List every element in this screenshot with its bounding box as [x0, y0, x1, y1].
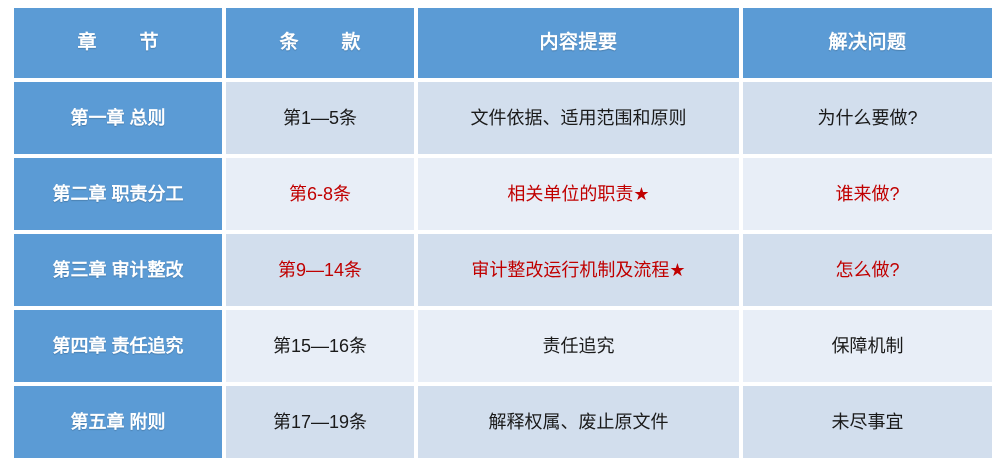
column-header-summary: 内容提要 — [418, 8, 739, 78]
cell-summary-label: 相关单位的职责★ — [507, 183, 649, 206]
cell-problem: 谁来做? — [743, 158, 992, 230]
cell-problem-label: 怎么做? — [835, 259, 899, 282]
cell-chapter-label: 第三章 审计整改 — [52, 259, 183, 282]
cell-chapter: 第三章 审计整改 — [14, 234, 222, 306]
column-header-chapter-label: 章 节 — [65, 31, 170, 55]
cell-clause: 第15—16条 — [226, 310, 414, 382]
cell-summary-label: 文件依据、适用范围和原则 — [471, 107, 687, 130]
column-header-problem-label: 解决问题 — [828, 31, 906, 55]
cell-summary: 文件依据、适用范围和原则 — [418, 82, 739, 154]
column-header-summary-label: 内容提要 — [539, 31, 617, 55]
cell-problem-label: 保障机制 — [832, 335, 904, 358]
cell-problem: 怎么做? — [743, 234, 992, 306]
cell-summary-label: 审计整改运行机制及流程★ — [471, 259, 685, 282]
cell-summary: 审计整改运行机制及流程★ — [418, 234, 739, 306]
cell-clause: 第6-8条 — [226, 158, 414, 230]
cell-chapter: 第一章 总则 — [14, 82, 222, 154]
table-row: 第四章 责任追究 第15—16条 责任追究 保障机制 — [14, 310, 988, 382]
cell-chapter-label: 第五章 附则 — [70, 411, 165, 434]
cell-clause-label: 第9—14条 — [278, 259, 362, 282]
column-header-clause: 条 款 — [226, 8, 414, 78]
cell-summary-label: 责任追究 — [543, 335, 615, 358]
cell-summary-label: 解释权属、废止原文件 — [489, 411, 669, 434]
cell-problem-label: 未尽事宜 — [832, 411, 904, 434]
cell-problem: 未尽事宜 — [743, 386, 992, 458]
cell-clause-label: 第6-8条 — [289, 183, 351, 206]
cell-problem-label: 谁来做? — [835, 183, 899, 206]
cell-summary: 解释权属、废止原文件 — [418, 386, 739, 458]
cell-problem-label: 为什么要做? — [817, 107, 917, 130]
cell-chapter: 第五章 附则 — [14, 386, 222, 458]
cell-chapter-label: 第二章 职责分工 — [52, 183, 183, 206]
cell-clause: 第17—19条 — [226, 386, 414, 458]
cell-clause: 第1—5条 — [226, 82, 414, 154]
cell-chapter: 第二章 职责分工 — [14, 158, 222, 230]
cell-clause-label: 第1—5条 — [283, 107, 357, 130]
cell-summary: 责任追究 — [418, 310, 739, 382]
cell-clause-label: 第15—16条 — [273, 335, 367, 358]
cell-problem: 保障机制 — [743, 310, 992, 382]
table-row: 第一章 总则 第1—5条 文件依据、适用范围和原则 为什么要做? — [14, 82, 988, 154]
table-header-row: 章 节 条 款 内容提要 解决问题 — [14, 8, 988, 78]
column-header-problem: 解决问题 — [743, 8, 992, 78]
cell-chapter-label: 第一章 总则 — [70, 107, 165, 130]
table-row: 第三章 审计整改 第9—14条 审计整改运行机制及流程★ 怎么做? — [14, 234, 988, 306]
column-header-chapter: 章 节 — [14, 8, 222, 78]
cell-chapter: 第四章 责任追究 — [14, 310, 222, 382]
column-header-clause-label: 条 款 — [267, 31, 372, 55]
cell-chapter-label: 第四章 责任追究 — [52, 335, 183, 358]
cell-clause-label: 第17—19条 — [273, 411, 367, 434]
cell-clause: 第9—14条 — [226, 234, 414, 306]
chapter-summary-table: 章 节 条 款 内容提要 解决问题 第一章 总则 第1—5条 文件依据、适用范围… — [14, 8, 988, 458]
cell-problem: 为什么要做? — [743, 82, 992, 154]
cell-summary: 相关单位的职责★ — [418, 158, 739, 230]
table-row: 第二章 职责分工 第6-8条 相关单位的职责★ 谁来做? — [14, 158, 988, 230]
table-row: 第五章 附则 第17—19条 解释权属、废止原文件 未尽事宜 — [14, 386, 988, 458]
